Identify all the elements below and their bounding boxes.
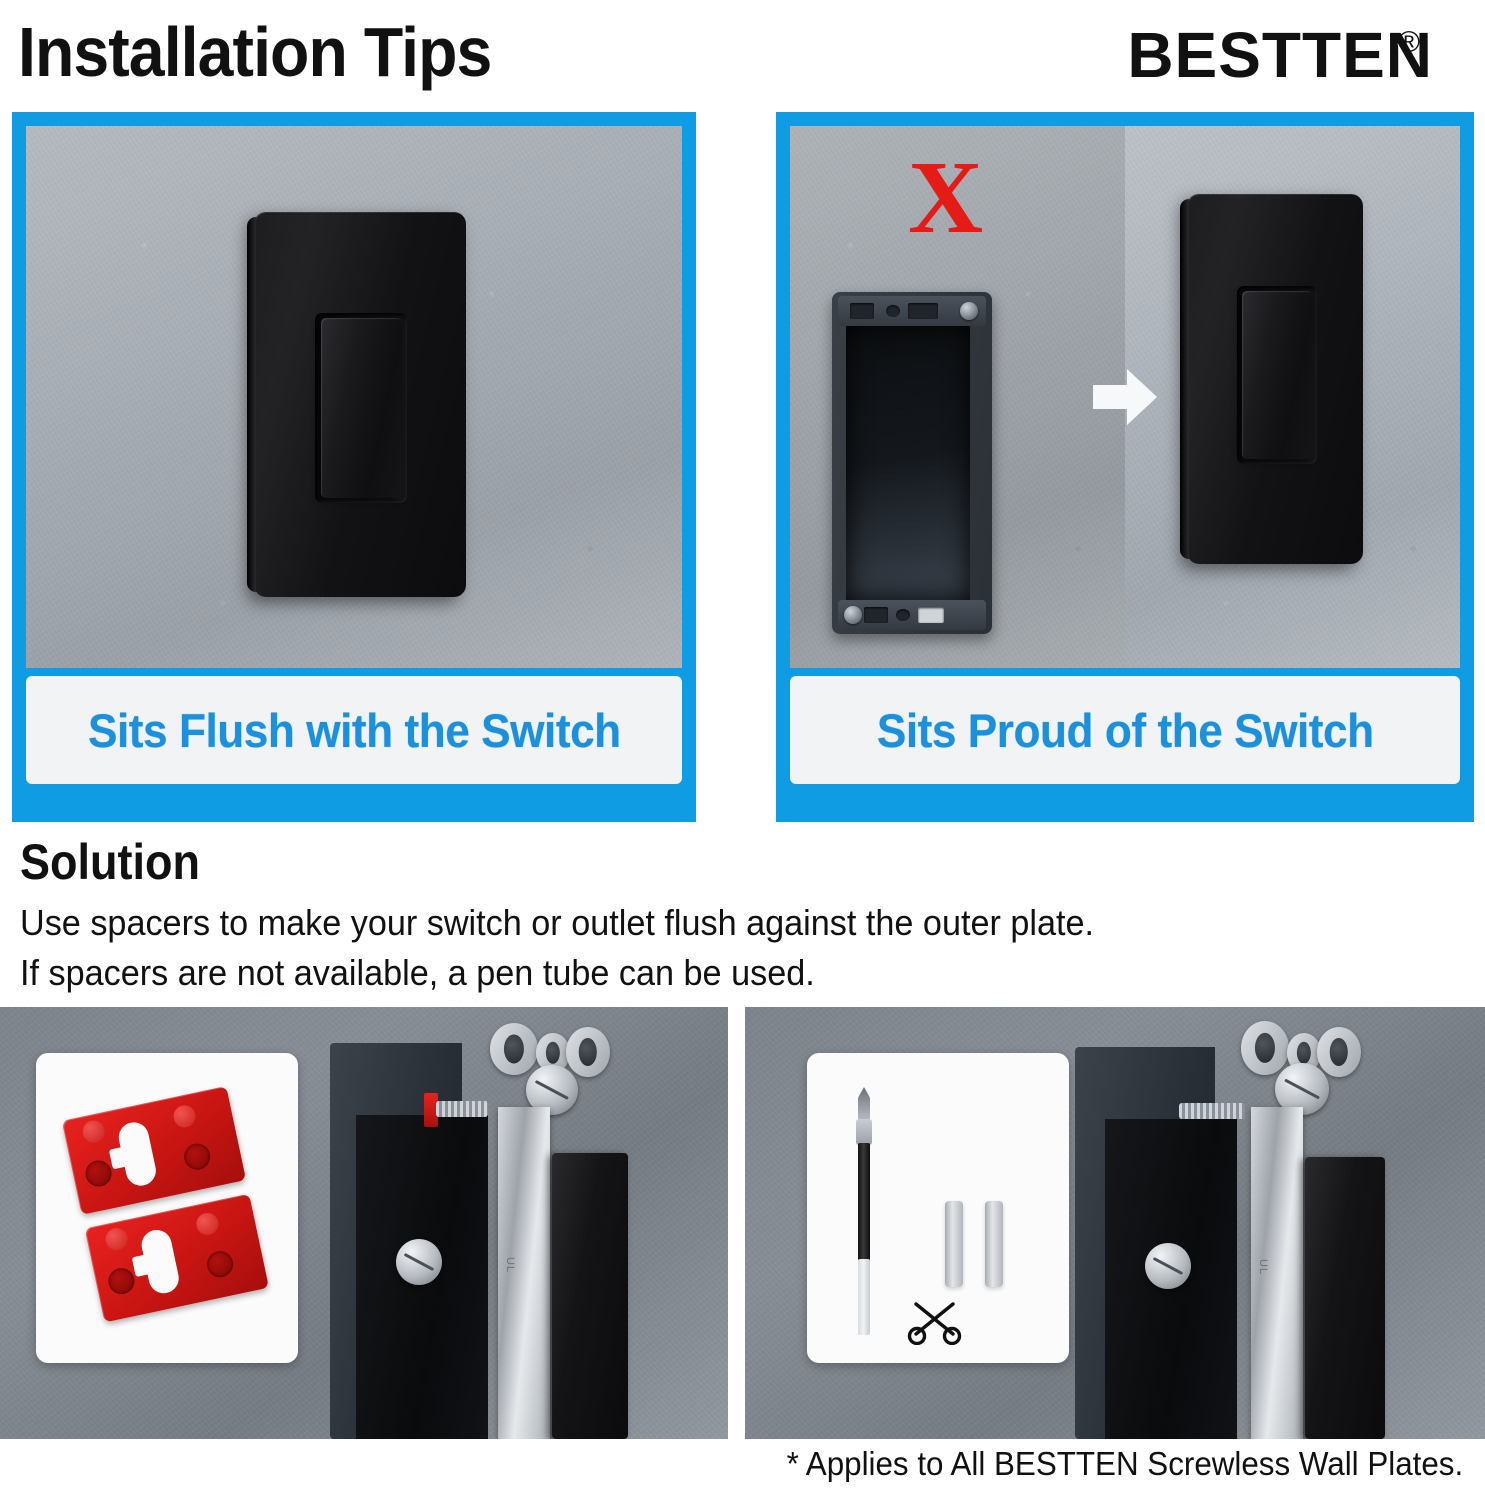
split-half-plate — [1125, 126, 1460, 668]
mounting-screw-thread — [1179, 1103, 1245, 1119]
bottom-photo-row: UL — [0, 1007, 1485, 1439]
switch-side-view: UL — [330, 1007, 728, 1439]
pen-tip — [858, 1087, 870, 1121]
cut-tube-segment — [985, 1201, 1003, 1287]
rocker-switch — [1242, 291, 1312, 459]
wall-box-tab — [918, 607, 944, 623]
terminal-screw — [1145, 1243, 1191, 1289]
mounting-screw-thread — [436, 1101, 488, 1117]
wall-box-hole — [896, 609, 910, 621]
wall-box-top-rail — [838, 296, 986, 326]
red-spacer — [85, 1194, 269, 1323]
rocker-switch — [552, 1153, 628, 1439]
wall-box-slot — [908, 303, 938, 319]
ul-listing-mark: UL — [1257, 1259, 1269, 1275]
wall-box-slot — [864, 607, 888, 623]
wall-plate — [254, 212, 466, 597]
caption-proud-label: Sits Proud of the Switch — [877, 703, 1374, 758]
ul-listing-mark: UL — [504, 1257, 516, 1273]
photo-proud-switch: X — [790, 126, 1460, 668]
solution-line-2: If spacers are not available, a pen tube… — [20, 948, 1388, 998]
rocker-switch — [1305, 1157, 1385, 1439]
electrical-wall-box — [832, 292, 992, 634]
page-header: Installation Tips BESTTEN ® — [0, 0, 1485, 110]
arrow-right-icon — [1093, 367, 1157, 427]
red-spacer — [62, 1086, 246, 1215]
photo-pen-tube: UL — [745, 1007, 1485, 1439]
registered-trademark-icon: ® — [1398, 28, 1421, 58]
pen-tube-card — [807, 1053, 1069, 1363]
panel-flush: Sits Flush with the Switch — [12, 112, 696, 822]
pen-ink-column — [858, 1143, 870, 1261]
split-photo: X — [790, 126, 1460, 668]
wall-box-screw — [960, 302, 978, 320]
terminal-screw — [396, 1239, 442, 1285]
panel-proud: X — [776, 112, 1474, 822]
page-title: Installation Tips — [18, 16, 491, 88]
wall-box-screw — [844, 606, 862, 624]
mounting-ear — [566, 1027, 610, 1077]
footnote-text: * Applies to All BESTTEN Screwless Wall … — [786, 1444, 1463, 1484]
solution-body: Use spacers to make your switch or outle… — [20, 898, 1388, 998]
wall-box-slot — [850, 303, 874, 319]
pen-collar — [856, 1119, 872, 1145]
spacer-card — [36, 1053, 298, 1363]
mounting-ear — [490, 1023, 538, 1075]
caption-proud: Sits Proud of the Switch — [790, 676, 1460, 784]
pen-empty-tube — [858, 1259, 870, 1335]
red-spacers-group — [62, 1086, 272, 1329]
split-half-wallbox: X — [790, 126, 1125, 668]
rocker-switch — [321, 318, 402, 498]
brand-logo: BESTTEN ® — [1127, 22, 1433, 88]
wall-box-bottom-rail — [838, 600, 986, 630]
installation-tips-page: Installation Tips BESTTEN ® Sits Flush w… — [0, 0, 1485, 1500]
photo-flush-switch — [26, 126, 682, 668]
wall-box-cavity — [846, 326, 970, 600]
brand-wordmark: BESTTEN — [1127, 19, 1433, 91]
photo-spacers: UL — [0, 1007, 728, 1439]
caption-flush-label: Sits Flush with the Switch — [88, 703, 621, 758]
switch-side-view: UL — [1075, 1007, 1485, 1439]
mounting-ear — [1317, 1027, 1361, 1077]
scissors-icon — [907, 1295, 963, 1345]
cut-tube-segment — [945, 1201, 963, 1287]
wall-box-hole — [886, 305, 900, 317]
solution-heading: Solution — [20, 836, 200, 888]
wall-plate — [1187, 194, 1363, 564]
mounting-ear — [1241, 1021, 1289, 1075]
red-x-icon: X — [908, 148, 980, 248]
solution-line-1: Use spacers to make your switch or outle… — [20, 898, 1388, 948]
caption-flush: Sits Flush with the Switch — [26, 676, 682, 784]
footnote: * Applies to All BESTTEN Screwless Wall … — [0, 1444, 1485, 1484]
pen-refill — [851, 1087, 877, 1335]
